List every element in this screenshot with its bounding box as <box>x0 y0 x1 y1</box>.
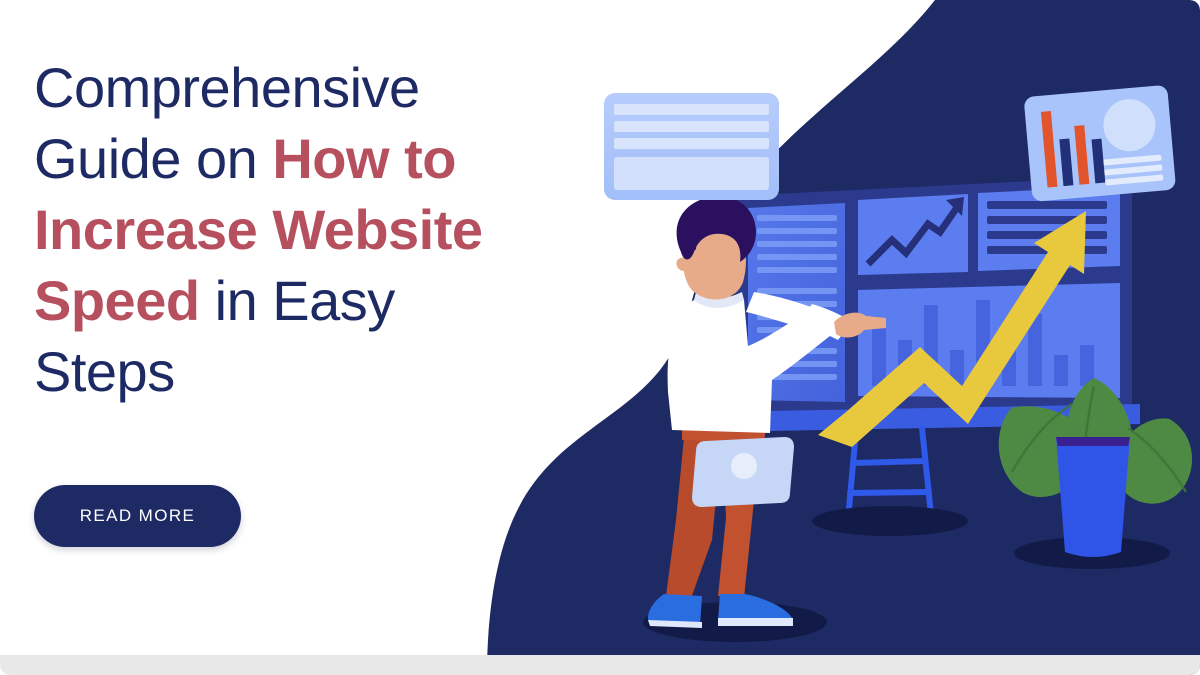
plant-pot-rim <box>1056 437 1130 446</box>
board-line-chart-panel <box>858 194 968 275</box>
plant-pot <box>1056 437 1130 557</box>
read-more-button[interactable]: READ MORE <box>34 485 241 547</box>
card-bottom-strip <box>0 655 1200 675</box>
person-shoe-front-sole <box>718 618 793 626</box>
easel-shadow <box>812 506 968 536</box>
floating-stats-card <box>1024 85 1177 202</box>
laptop-trackpad <box>731 453 757 479</box>
floating-document-card <box>604 93 779 200</box>
banner-canvas: Comprehensive Guide on How to Increase W… <box>0 0 1200 675</box>
text-panel: Comprehensive Guide on How to Increase W… <box>34 52 504 407</box>
page-title: Comprehensive Guide on How to Increase W… <box>34 52 504 407</box>
